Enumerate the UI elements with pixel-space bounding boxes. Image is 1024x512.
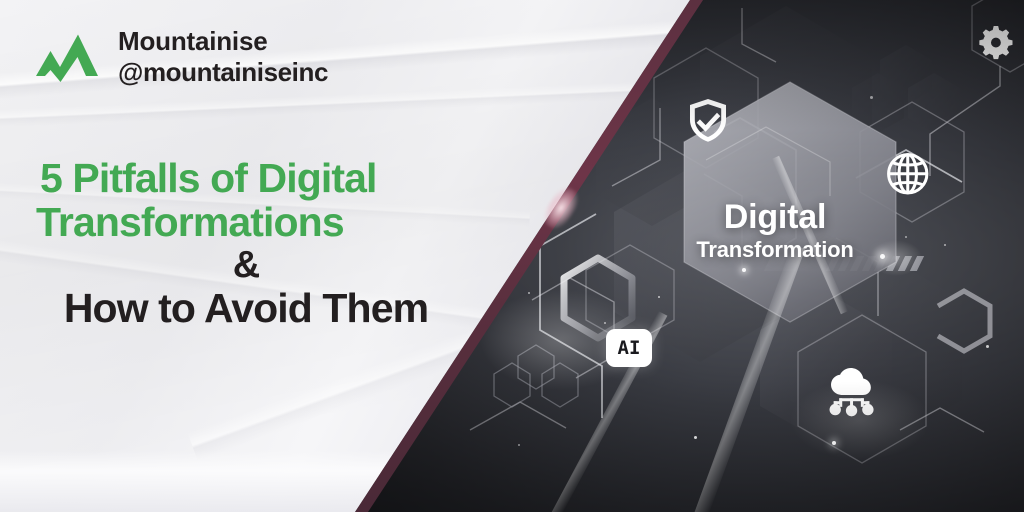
sparkle-dot — [518, 444, 520, 446]
sparkle-dot — [604, 322, 606, 324]
headline-block: 5 Pitfalls of Digital Transformations & … — [0, 156, 500, 330]
headline-line-4: How to Avoid Them — [36, 286, 456, 330]
brand-handle: @mountainiseinc — [118, 57, 328, 88]
sparkle-dot — [870, 96, 873, 99]
headline-ampersand: & — [36, 245, 456, 286]
headline-line-1: 5 Pitfalls of Digital — [40, 156, 500, 200]
center-hex-line2: Transformation — [660, 236, 890, 264]
sparkle-dot — [742, 268, 746, 272]
sparkle-dot — [905, 236, 907, 238]
sparkle-dot — [658, 296, 660, 298]
center-hex-line1: Digital — [660, 200, 890, 236]
brand-text: Mountainise @mountainiseinc — [118, 26, 328, 87]
headline-line-2: Transformations — [36, 200, 500, 244]
mountain-peaks-logo-icon — [36, 26, 98, 87]
sparkle-dot — [694, 436, 697, 439]
banner-canvas: Digital Transformation AI Mountainise @m… — [0, 0, 1024, 512]
ai-chip-badge: AI — [606, 329, 652, 367]
ai-chip-label: AI — [618, 337, 641, 359]
center-hexagon-label: Digital Transformation — [660, 200, 890, 263]
paper-fold-streak — [0, 81, 660, 130]
sparkle-dot — [986, 345, 989, 348]
brand-block: Mountainise @mountainiseinc — [36, 26, 328, 87]
sparkle-dot — [944, 244, 946, 246]
sparkle-dot — [528, 292, 530, 294]
brand-name: Mountainise — [118, 26, 328, 57]
sparkle-dot — [832, 441, 836, 445]
